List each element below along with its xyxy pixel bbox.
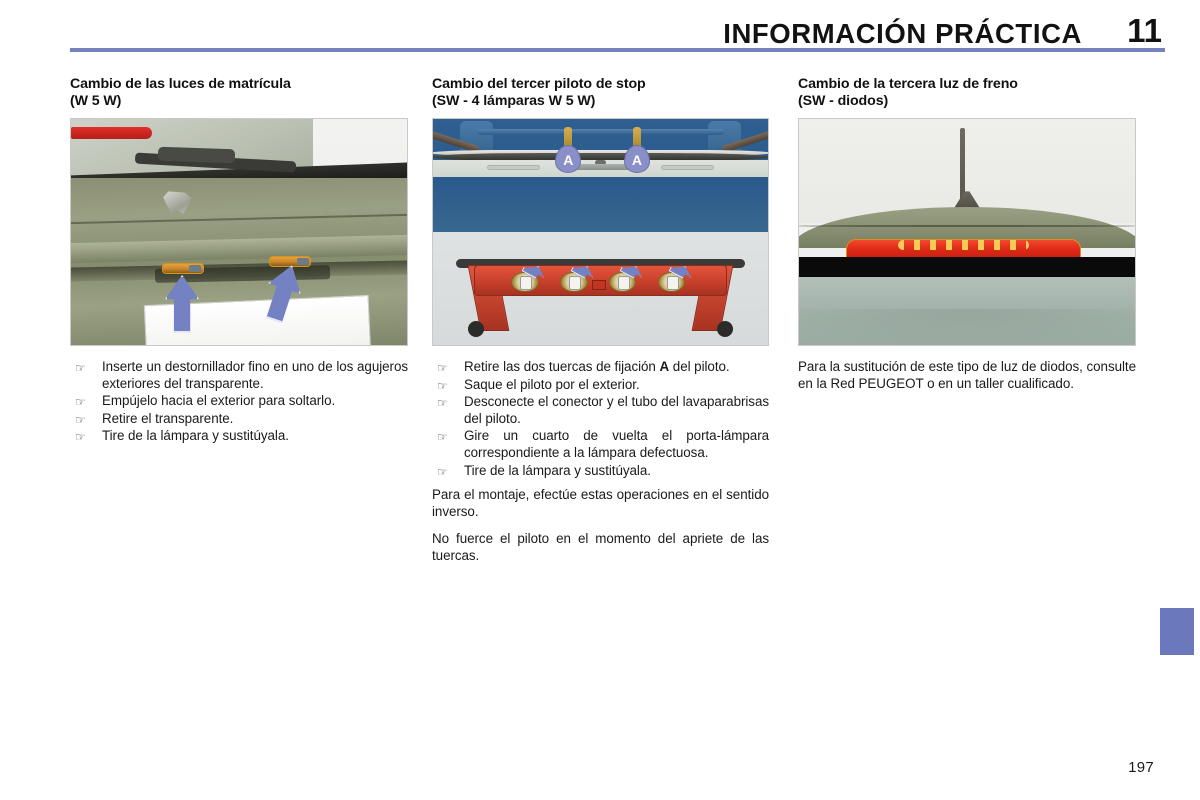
paragraph: No fuerce el piloto en el momento del ap… xyxy=(432,531,769,564)
steps-list-2: ☞ Retire las dos tuercas de fijación A d… xyxy=(432,359,769,479)
list-item: ☞ Saque el piloto por el exterior. xyxy=(432,377,769,394)
list-item: ☞ Desconecte el conector y el tubo del l… xyxy=(432,394,769,427)
pointing-hand-icon: ☞ xyxy=(75,429,86,446)
license-plate-lamp-left xyxy=(162,263,204,275)
chapter-side-tab xyxy=(1160,608,1194,655)
high-mounted-brake-light xyxy=(71,127,152,139)
list-item: ☞ Inserte un destornillador fino en uno … xyxy=(70,359,408,392)
list-item: ☞ Retire las dos tuercas de fijación A d… xyxy=(432,359,769,376)
list-item: ☞ Empújelo hacia el exterior para soltar… xyxy=(70,393,408,410)
pointing-hand-icon: ☞ xyxy=(437,429,448,446)
column-third-brake-light-diodes: Cambio de la tercera luz de freno (SW - … xyxy=(798,76,1136,392)
list-item-text: Tire de la lámpara y sustitúyala. xyxy=(102,428,289,443)
headliner-vent-right xyxy=(661,165,715,171)
list-item-text: Retire las dos tuercas de fijación A del… xyxy=(464,359,730,374)
list-item: ☞ Gire un cuarto de vuelta el porta-lámp… xyxy=(432,428,769,461)
pointing-hand-icon: ☞ xyxy=(75,360,86,377)
license-plate-lamp-right xyxy=(269,256,311,268)
list-item: ☞ Tire de la lámpara y sustitúyala. xyxy=(432,463,769,480)
list-item: ☞ Retire el transparente. xyxy=(70,411,408,428)
page-header: INFORMACIÓN PRÁCTICA 11 xyxy=(0,0,1200,54)
section-heading-1-line1: Cambio de las luces de matrícula xyxy=(70,76,291,92)
figure-third-stop-lamp: A A xyxy=(432,118,769,346)
steps-block-1: ☞ Inserte un destornillador fino en uno … xyxy=(70,359,408,445)
stop-lamp-assembly xyxy=(456,259,744,336)
list-item-text: Empújelo hacia el exterior para soltarlo… xyxy=(102,393,335,408)
figure-license-plate-lamps xyxy=(70,118,408,346)
steps-block-2: ☞ Retire las dos tuercas de fijación A d… xyxy=(432,359,769,565)
manual-page: INFORMACIÓN PRÁCTICA 11 Cambio de las lu… xyxy=(0,0,1200,800)
section-heading-2: Cambio del tercer piloto de stop (SW - 4… xyxy=(432,76,769,109)
steps-list-1: ☞ Inserte un destornillador fino en uno … xyxy=(70,359,408,445)
rear-window-dark-band xyxy=(798,257,1136,280)
column-third-stop-lamp: Cambio del tercer piloto de stop (SW - 4… xyxy=(432,76,769,565)
list-item-text: Gire un cuarto de vuelta el porta-lámpar… xyxy=(464,428,769,460)
notes-block-2: Para el montaje, efectúe estas operacion… xyxy=(432,487,769,564)
electrical-connector xyxy=(592,280,606,290)
paragraph: Para la sustitución de este tipo de luz … xyxy=(798,359,1136,392)
list-item-text: Inserte un destornillador fino en uno de… xyxy=(102,359,408,391)
header-divider xyxy=(70,48,1165,52)
column-license-plate-lights: Cambio de las luces de matrícula (W 5 W) xyxy=(70,76,408,446)
pointing-hand-icon: ☞ xyxy=(75,412,86,429)
list-item-text: Retire el transparente. xyxy=(102,411,233,426)
section-heading-2-line1: Cambio del tercer piloto de stop xyxy=(432,76,646,92)
tailgate-cross-bar xyxy=(477,129,725,135)
led-diode-array xyxy=(898,240,1029,250)
glass-reflection xyxy=(798,309,1136,346)
pointing-hand-icon: ☞ xyxy=(437,360,448,377)
notes-block-3: Para la sustitución de este tipo de luz … xyxy=(798,359,1136,392)
diagram-upper-panel: A A xyxy=(433,119,768,232)
callout-label: A xyxy=(624,145,650,173)
lamp-lens-right xyxy=(297,258,309,265)
pointing-hand-icon: ☞ xyxy=(437,378,448,395)
section-heading-1: Cambio de las luces de matrícula (W 5 W) xyxy=(70,76,408,109)
pointing-hand-icon: ☞ xyxy=(75,394,86,411)
lamp-lens-left xyxy=(189,265,201,272)
figure-third-brake-light-diodes xyxy=(798,118,1136,346)
page-number: 197 xyxy=(1128,759,1154,776)
pointing-hand-icon: ☞ xyxy=(437,395,448,412)
assembly-foot-left xyxy=(468,321,484,337)
pointing-hand-icon: ☞ xyxy=(437,464,448,481)
section-heading-1-line2: (W 5 W) xyxy=(70,93,408,110)
assembly-foot-right xyxy=(717,321,733,337)
headliner-vent-left xyxy=(487,165,541,171)
list-item-text: Tire de la lámpara y sustitúyala. xyxy=(464,463,651,478)
list-item-text: Desconecte el conector y el tubo del lav… xyxy=(464,394,769,426)
list-item-text: Saque el piloto por el exterior. xyxy=(464,377,640,392)
paragraph: Para el montaje, efectúe estas operacion… xyxy=(432,487,769,520)
page-title: INFORMACIÓN PRÁCTICA xyxy=(723,18,1082,50)
section-heading-3-line2: (SW - diodos) xyxy=(798,93,1136,110)
section-heading-3-line1: Cambio de la tercera luz de freno xyxy=(798,76,1018,92)
section-heading-3: Cambio de la tercera luz de freno (SW - … xyxy=(798,76,1136,109)
chapter-number: 11 xyxy=(1127,12,1162,50)
section-heading-2-line2: (SW - 4 lámparas W 5 W) xyxy=(432,93,769,110)
list-item: ☞ Tire de la lámpara y sustitúyala. xyxy=(70,428,408,445)
